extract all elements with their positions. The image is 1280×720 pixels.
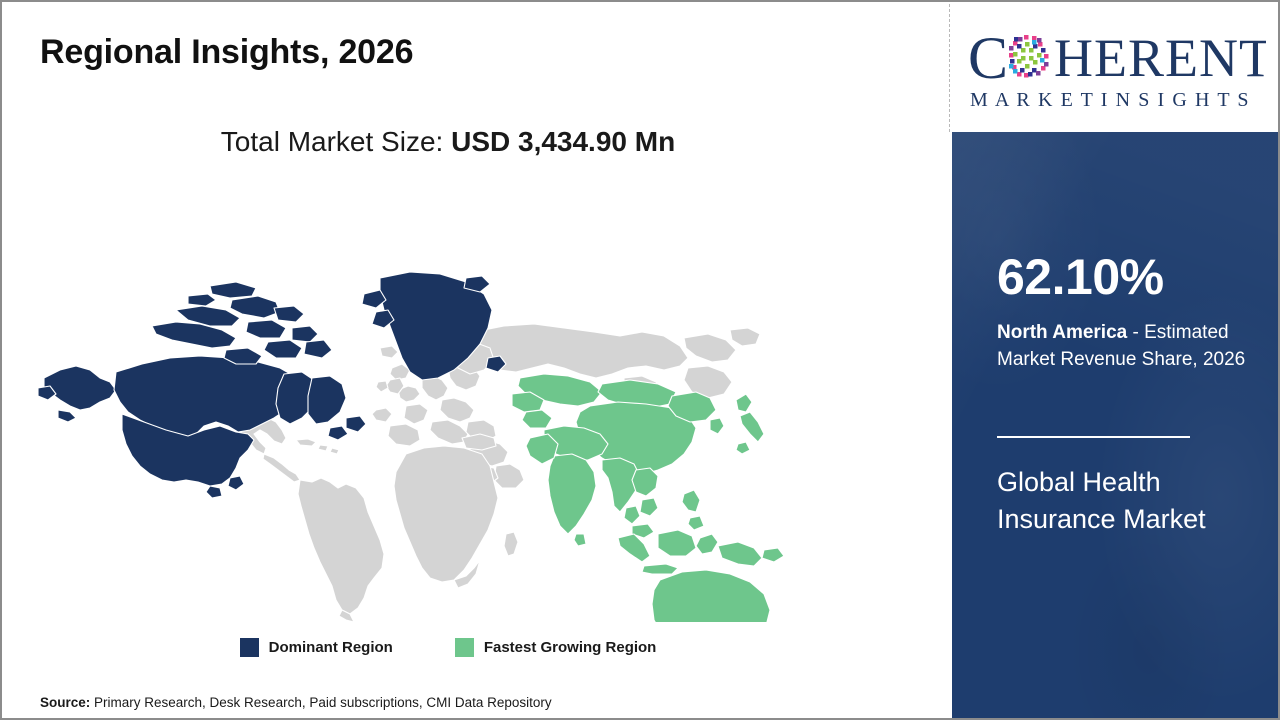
vertical-dashed-divider bbox=[949, 4, 950, 132]
highlight-panel: 62.10% North America - Estimated Market … bbox=[952, 132, 1280, 720]
legend-swatch-dominant bbox=[240, 638, 259, 657]
source-label: Source: bbox=[40, 695, 90, 710]
panel-content: 62.10% North America - Estimated Market … bbox=[997, 132, 1259, 720]
legend-item-fastest-growing: Fastest Growing Region bbox=[455, 638, 657, 657]
market-size-label: Total Market Size: bbox=[221, 126, 451, 157]
map-region-asia-pacific bbox=[512, 374, 812, 622]
stat-description: North America - Estimated Market Revenue… bbox=[997, 320, 1261, 374]
legend-item-dominant: Dominant Region bbox=[240, 638, 393, 657]
globe-dots-icon bbox=[1007, 35, 1049, 78]
stat-value: 62.10% bbox=[997, 252, 1164, 302]
logo-letter-c: C bbox=[968, 25, 1008, 91]
legend-label-dominant: Dominant Region bbox=[269, 639, 393, 656]
world-map bbox=[24, 182, 854, 622]
total-market-size: Total Market Size: USD 3,434.90 Mn bbox=[2, 126, 894, 158]
logo-wordmark: HERENT bbox=[1054, 28, 1266, 88]
legend-label-fastest-growing: Fastest Growing Region bbox=[484, 639, 657, 656]
logo-tagline: M A R K E T I N S I G H T S bbox=[970, 89, 1250, 111]
coherent-market-insights-logo: C bbox=[966, 20, 1266, 116]
infographic-root: Regional Insights, 2026 Total Market Siz… bbox=[0, 0, 1280, 720]
left-content-area: Regional Insights, 2026 Total Market Siz… bbox=[2, 2, 950, 718]
market-size-value: USD 3,434.90 Mn bbox=[451, 126, 675, 157]
brand-logo-area: C bbox=[952, 4, 1280, 132]
legend-swatch-fastest-growing bbox=[455, 638, 474, 657]
stat-region-name: North America bbox=[997, 322, 1127, 343]
panel-divider-rule bbox=[997, 436, 1190, 438]
map-legend: Dominant Region Fastest Growing Region bbox=[2, 638, 894, 657]
page-title: Regional Insights, 2026 bbox=[40, 33, 413, 72]
source-text: Primary Research, Desk Research, Paid su… bbox=[90, 695, 551, 710]
market-name: Global Health Insurance Market bbox=[997, 464, 1235, 538]
source-note: Source: Primary Research, Desk Research,… bbox=[40, 695, 552, 710]
